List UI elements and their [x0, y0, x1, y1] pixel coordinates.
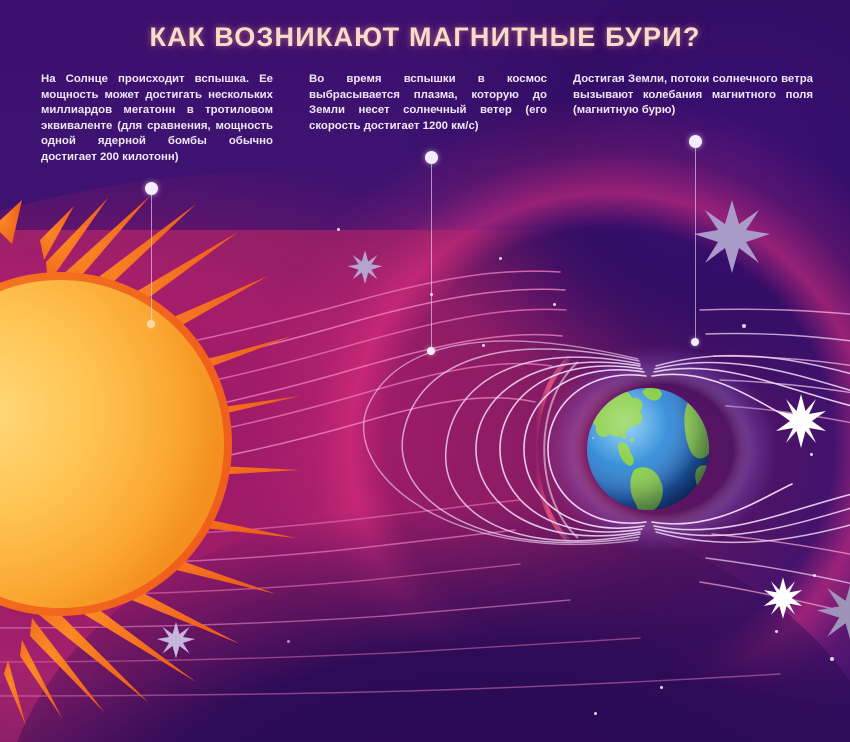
star-lavender-sun: [157, 622, 195, 659]
star-speck: [775, 630, 778, 633]
star-speck: [813, 574, 816, 577]
star-speck: [592, 437, 594, 439]
star-lavender-small: [348, 250, 383, 284]
star-speck: [810, 453, 813, 456]
star-speck: [499, 257, 502, 260]
infographic-canvas: КАК ВОЗНИКАЮТ МАГНИТНЫЕ БУРИ? На Солнце …: [0, 0, 850, 742]
star-speck: [553, 303, 556, 306]
star-grey-edge: [817, 578, 850, 646]
sun: [0, 196, 300, 726]
callout-text-flare: На Солнце происходит вспышка. Ее мощност…: [41, 72, 273, 166]
star-speck: [337, 228, 340, 231]
leader-line-storm: [695, 148, 696, 342]
leader-dot-flare: [145, 182, 158, 195]
solar-wind-anchor: [427, 347, 435, 355]
star-speck: [482, 344, 485, 347]
star-speck: [660, 686, 663, 689]
leader-line-flare: [151, 193, 152, 325]
leader-dot-plasma: [425, 151, 438, 164]
leader-dot-storm: [689, 135, 702, 148]
callout-text-storm: Достигая Земли, потоки солнечного ветра …: [573, 72, 813, 119]
star-white-burst-right: [776, 394, 826, 448]
star-speck: [830, 657, 834, 661]
star-speck: [742, 324, 746, 328]
sun-flare-anchor: [147, 320, 155, 328]
star-speck: [594, 712, 597, 715]
star-white-burst-bottom: [764, 577, 802, 619]
earth-shading: [587, 388, 709, 510]
leader-line-plasma: [431, 164, 432, 352]
page-title: КАК ВОЗНИКАЮТ МАГНИТНЫЕ БУРИ?: [0, 22, 850, 53]
star-lavender-large: [694, 200, 770, 273]
callout-text-plasma: Во время вспышки в космос выбрасывается …: [309, 72, 547, 134]
star-speck: [287, 640, 290, 643]
magnetosphere-anchor: [691, 338, 699, 346]
